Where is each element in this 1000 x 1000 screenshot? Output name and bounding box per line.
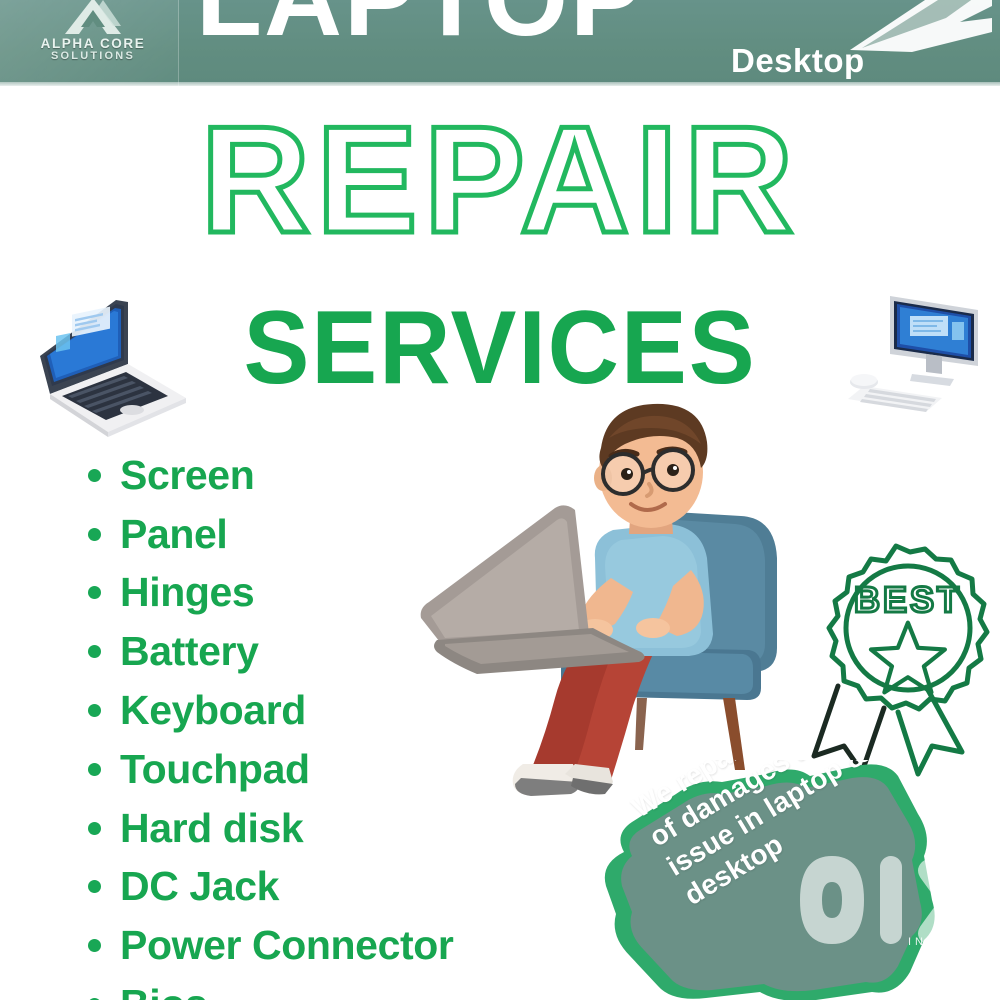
list-item[interactable]: Power Connector [88,916,558,975]
list-item[interactable]: Keyboard [88,681,558,740]
bullet-dot-icon [88,822,101,835]
swoosh-ribbon-icon [842,0,992,52]
list-item[interactable]: Bios [88,975,558,1000]
company-logo: ALPHA CORE SOLUTIONS [18,0,168,74]
bullet-dot-icon [88,469,101,482]
list-item-label: Screen [120,455,254,496]
company-logo-name: ALPHA CORE [18,37,168,51]
best-badge-text: BEST [854,579,962,620]
bullet-dot-icon [88,939,101,952]
olx-region-label: INDIA [908,936,957,948]
repair-outline-title: REPAIR [0,104,1000,256]
isometric-laptop-icon [28,286,198,446]
list-item[interactable]: Hinges [88,564,558,623]
list-item-label: Power Connector [120,925,453,966]
list-item-label: Panel [120,514,227,555]
list-item[interactable]: DC Jack [88,858,558,917]
list-item-label: Bios [120,984,207,1000]
list-item[interactable]: Battery [88,622,558,681]
top-banner: LAPTOP Desktop ALPHA CORE SOLUTIONS [0,0,1000,86]
desktop-monitor-keyboard-mouse-icon [838,286,998,416]
list-item[interactable]: Panel [88,505,558,564]
services-list: Screen Panel Hinges Battery Keyboard Tou… [88,446,558,1000]
bullet-dot-icon [88,763,101,776]
bullet-dot-icon [88,704,101,717]
list-item-label: Hard disk [120,808,303,849]
list-item-label: Keyboard [120,690,306,731]
list-item-label: Touchpad [120,749,310,790]
list-item[interactable]: Hard disk [88,799,558,858]
bullet-dot-icon [88,645,101,658]
list-item-label: DC Jack [120,866,279,907]
bullet-dot-icon [88,528,101,541]
olx-logo-icon [786,846,986,966]
alpha-core-triangle-logo-icon [59,0,127,36]
bullet-dot-icon [88,586,101,599]
list-item[interactable]: Screen [88,446,558,505]
list-item-label: Hinges [120,572,254,613]
poster-canvas: LAPTOP Desktop ALPHA CORE SOLUTIONS REPA… [0,0,1000,1000]
list-item-label: Battery [120,631,258,672]
list-item[interactable]: Touchpad [88,740,558,799]
company-logo-sub: SOLUTIONS [18,51,168,63]
bullet-dot-icon [88,880,101,893]
banner-divider [0,82,1000,86]
